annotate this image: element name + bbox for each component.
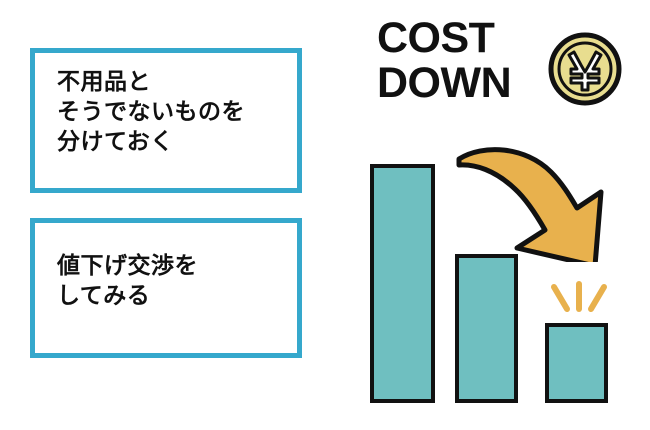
bar-3: [545, 323, 608, 403]
infographic-canvas: 不用品と そうでないものを 分けておく 値下げ交渉を してみる COST DOW…: [0, 0, 650, 430]
tip-box-1-text: 不用品と そうでないものを 分けておく: [57, 67, 245, 157]
sparkle-icon: [545, 281, 613, 317]
cost-down-heading: COST DOWN: [377, 16, 511, 106]
bar-2: [455, 254, 518, 403]
yen-coin-icon: [548, 32, 622, 106]
tip-box-2: 値下げ交渉を してみる: [30, 218, 302, 358]
bar-1: [370, 164, 435, 403]
down-arrow-icon: [455, 142, 615, 262]
tip-box-2-text: 値下げ交渉を してみる: [57, 251, 198, 311]
tip-box-1: 不用品と そうでないものを 分けておく: [30, 48, 302, 193]
